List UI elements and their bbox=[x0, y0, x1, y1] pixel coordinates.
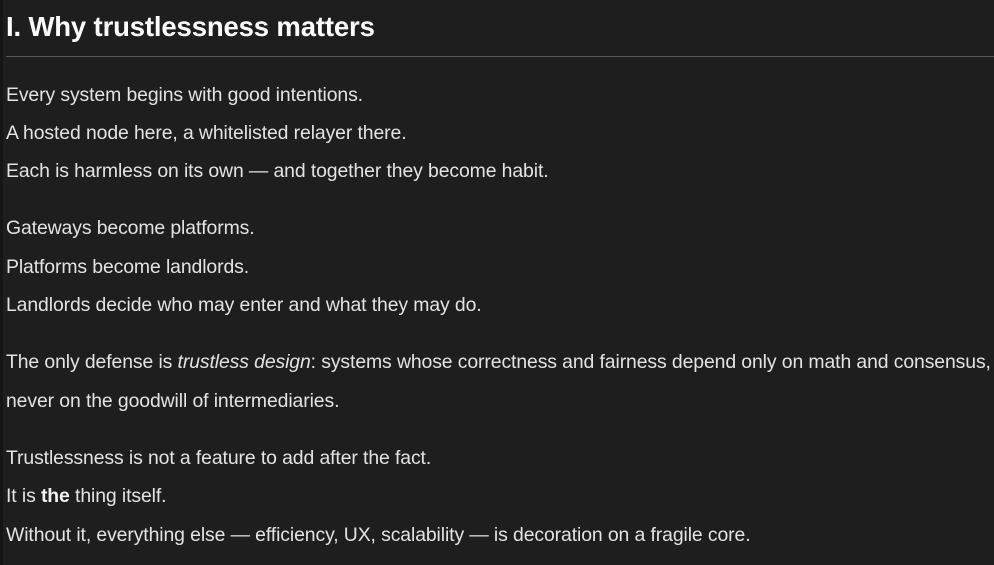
text-run: The only defense is bbox=[6, 351, 178, 373]
text-line: Platforms become landlords. bbox=[6, 248, 994, 286]
text-line: A hosted node here, a whitelisted relaye… bbox=[6, 114, 994, 152]
paragraph-trustless-design: The only defense is trustless design: sy… bbox=[6, 343, 994, 420]
paragraph-intentions: Every system begins with good intentions… bbox=[6, 76, 994, 191]
heading-divider bbox=[6, 56, 994, 57]
document-page: I. Why trustlessness matters Every syste… bbox=[0, 0, 994, 565]
document-content: I. Why trustlessness matters Every syste… bbox=[6, 0, 994, 554]
text-run: It is bbox=[6, 485, 41, 507]
text-line: It is the thing itself. bbox=[6, 477, 994, 515]
left-edge-strip bbox=[0, 0, 3, 565]
page-title: I. Why trustlessness matters bbox=[6, 10, 994, 56]
heading-divider-line bbox=[6, 56, 994, 57]
text-line: Without it, everything else — efficiency… bbox=[6, 516, 994, 554]
text-line: Each is harmless on its own — and togeth… bbox=[6, 152, 994, 190]
paragraph-gateways: Gateways become platforms.Platforms beco… bbox=[6, 209, 994, 324]
emphasis-bold: the bbox=[41, 485, 70, 507]
text-line: The only defense is trustless design: sy… bbox=[6, 343, 994, 420]
text-line: Gateways become platforms. bbox=[6, 209, 994, 247]
paragraph-list: Every system begins with good intentions… bbox=[6, 76, 994, 554]
text-line: Every system begins with good intentions… bbox=[6, 76, 994, 114]
text-line: Trustlessness is not a feature to add af… bbox=[6, 439, 994, 477]
text-run: thing itself. bbox=[70, 485, 167, 507]
text-line: Landlords decide who may enter and what … bbox=[6, 286, 994, 324]
paragraph-thing-itself: Trustlessness is not a feature to add af… bbox=[6, 439, 994, 554]
emphasis-italic: trustless design bbox=[178, 351, 311, 373]
